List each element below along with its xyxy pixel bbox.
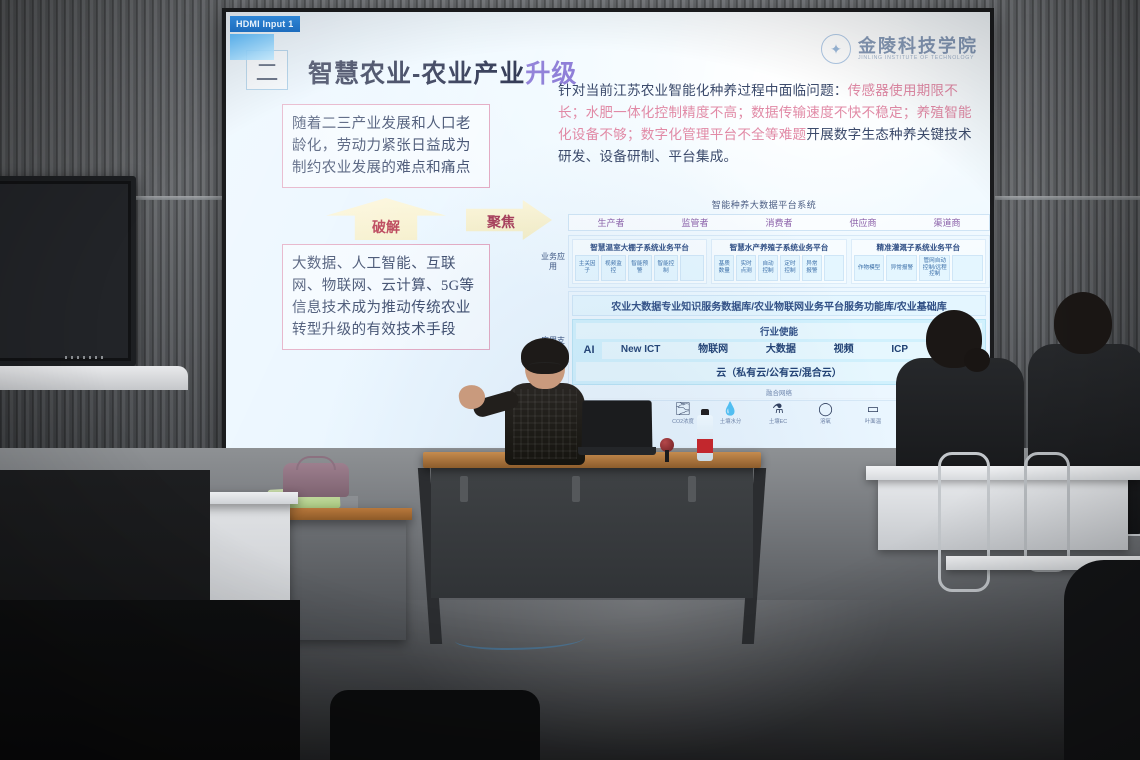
enablement-item: 物联网 bbox=[698, 345, 728, 356]
wall-display-screen bbox=[0, 184, 128, 358]
sensor-label: 溶氧 bbox=[806, 417, 846, 425]
breakthrough-arrow: 破解 bbox=[326, 198, 446, 240]
sensor-soil-moisture-icon: 💧 bbox=[711, 402, 751, 415]
sensor-item: ◯ 溶氧 bbox=[806, 402, 846, 425]
water-bottle bbox=[697, 409, 713, 461]
microphone-stem bbox=[665, 450, 669, 462]
wall-display-shelf bbox=[0, 366, 188, 390]
student-head bbox=[1054, 292, 1112, 354]
diagram-roles-row: 生产者 监管者 消费者 供应商 渠道商 bbox=[568, 214, 990, 231]
subsystem-cells: 主关因子 视频监控 智能预警 智能控制 bbox=[575, 255, 704, 281]
role-item: 渠道商 bbox=[933, 216, 960, 229]
chair-frame bbox=[938, 452, 990, 592]
university-name: 金陵科技学院 JINLING INSTITUTE OF TECHNOLOGY bbox=[858, 37, 978, 61]
subsystem-cell: 主关因子 bbox=[575, 255, 599, 281]
arrow-right-label: 聚焦 bbox=[472, 212, 530, 232]
subsystem-cell: 视频监控 bbox=[601, 255, 625, 281]
left-text-box-2: 大数据、人工智能、互联网、物联网、云计算、5G等信息技术成为推动传统农业转型升级… bbox=[282, 244, 490, 350]
foreground-shadow-block bbox=[0, 600, 300, 760]
university-logo: ✦ 金陵科技学院 JINLING INSTITUTE OF TECHNOLOGY bbox=[821, 34, 978, 64]
subsystem-greenhouse: 智慧温室大棚子系统业务平台 主关因子 视频监控 智能预警 智能控制 bbox=[572, 239, 707, 284]
subsystem-title: 智慧温室大棚子系统业务平台 bbox=[575, 242, 704, 253]
subsystem-irrigation: 精准灌溉子系统业务平台 作物模型 异常报警 管网自动控制/远程控制 bbox=[851, 239, 986, 284]
chair-frame bbox=[1024, 452, 1070, 572]
podium-body bbox=[431, 468, 753, 598]
sensor-label: 土壤水分 bbox=[711, 417, 751, 425]
hdmi-badge-backdrop bbox=[230, 34, 274, 60]
subsystem-cell: 异常报警 bbox=[802, 255, 822, 281]
subsystem-title: 精准灌溉子系统业务平台 bbox=[854, 242, 983, 253]
subsystem-cell: 基质数量 bbox=[714, 255, 734, 281]
sensor-item: ▭ 叶面温 bbox=[853, 402, 893, 425]
student-seated-3 bbox=[1064, 560, 1140, 760]
sensor-leaf-temperature-icon: ▭ bbox=[853, 402, 893, 415]
subsystem-cell: 定时控制 bbox=[780, 255, 800, 281]
wall-display bbox=[0, 176, 136, 366]
sensor-item: ⚗ 土壤EC bbox=[758, 402, 798, 425]
university-name-cn: 金陵科技学院 bbox=[858, 37, 978, 56]
handbag-handle bbox=[296, 456, 336, 470]
slide-title-main: 智慧农业-农业产业 bbox=[308, 60, 525, 88]
university-emblem-icon: ✦ bbox=[821, 34, 851, 64]
paragraph-lead: 针对当前江苏农业智能化种养过程中面临问题： bbox=[558, 83, 848, 98]
sensor-soil-ec-icon: ⚗ bbox=[758, 402, 798, 415]
subsystem-cell: 自动控制 bbox=[758, 255, 778, 281]
podium-handle bbox=[688, 476, 696, 502]
role-item: 生产者 bbox=[597, 216, 624, 229]
page-title: 智慧农业-农业产业升级 bbox=[308, 54, 577, 90]
subsystem-cell: 实时点测 bbox=[736, 255, 756, 281]
problem-paragraph: 针对当前江苏农业智能化种养过程中面临问题：传感器使用期限不长；水肥一体化控制精度… bbox=[558, 80, 982, 168]
sensor-item: 💧 土壤水分 bbox=[711, 402, 751, 425]
enablement-item: New ICT bbox=[621, 345, 660, 356]
laptop-base bbox=[578, 447, 656, 455]
business-application-body: 智慧温室大棚子系统业务平台 主关因子 视频监控 智能预警 智能控制 bbox=[568, 235, 990, 288]
sensor-dissolved-oxygen-icon: ◯ bbox=[806, 402, 846, 415]
role-item: 供应商 bbox=[849, 216, 876, 229]
subsystem-cells: 基质数量 实时点测 自动控制 定时控制 异常报警 bbox=[714, 255, 843, 281]
student-desk-panel bbox=[878, 480, 1128, 550]
subsystem-cell: 异常报警 bbox=[886, 255, 917, 281]
microphone bbox=[660, 438, 674, 460]
subsystem-cell: 管网自动控制/远程控制 bbox=[919, 255, 950, 281]
student-hair-tie bbox=[964, 348, 990, 372]
bottle-body bbox=[697, 415, 713, 461]
subsystem-cell-empty bbox=[680, 255, 704, 281]
subsystem-cells: 作物模型 异常报警 管网自动控制/远程控制 bbox=[854, 255, 983, 281]
diagram-title: 智能种养大数据平台系统 bbox=[538, 198, 990, 211]
enablement-item: 大数据 bbox=[766, 345, 796, 356]
student-torso bbox=[1064, 560, 1140, 760]
wall-display-indicator bbox=[65, 356, 107, 359]
subsystem-list: 智慧温室大棚子系统业务平台 主关因子 视频监控 智能预警 智能控制 bbox=[572, 239, 986, 284]
subsystem-cell: 智能控制 bbox=[654, 255, 678, 281]
subsystem-cell-empty bbox=[824, 255, 844, 281]
glasses-icon bbox=[528, 362, 562, 370]
subsystem-cell-empty bbox=[952, 255, 983, 281]
subsystem-cell: 作物模型 bbox=[854, 255, 885, 281]
enablement-item: 视频 bbox=[834, 345, 854, 356]
classroom-photo: HDMI Input 1 二 智慧农业-农业产业升级 ✦ 金陵科技学院 JINL… bbox=[0, 0, 1140, 760]
sensor-label: 土壤EC bbox=[758, 417, 798, 425]
sensor-label: 叶面温 bbox=[853, 417, 893, 425]
left-text-box-1: 随着二三产业发展和人口老龄化，劳动力紧张日益成为制约农业发展的难点和痛点 bbox=[282, 104, 490, 188]
hdmi-input-badge: HDMI Input 1 bbox=[230, 16, 300, 32]
laptop-screen bbox=[582, 400, 653, 448]
foreground-chair bbox=[330, 690, 540, 760]
laptop bbox=[578, 400, 656, 456]
student-desk-top bbox=[866, 466, 1140, 480]
arrow-up-label: 破解 bbox=[326, 217, 446, 237]
business-application-row: 业务应用 智慧温室大棚子系统业务平台 主关因子 视频监控 智能预警 智能控制 bbox=[538, 235, 990, 288]
row-label-business: 业务应用 bbox=[538, 235, 568, 288]
bottle-label bbox=[697, 439, 713, 453]
podium-handle bbox=[572, 476, 580, 502]
subsystem-aquaculture: 智慧水产养殖子系统业务平台 基质数量 实时点测 自动控制 定时控制 异常报警 bbox=[711, 239, 846, 284]
podium-handle bbox=[460, 476, 468, 502]
role-item: 监管者 bbox=[681, 216, 708, 229]
presentation-slide: HDMI Input 1 二 智慧农业-农业产业升级 ✦ 金陵科技学院 JINL… bbox=[226, 12, 990, 456]
bottle-cap bbox=[701, 409, 709, 415]
role-item: 消费者 bbox=[765, 216, 792, 229]
projection-screen: HDMI Input 1 二 智慧农业-农业产业升级 ✦ 金陵科技学院 JINL… bbox=[222, 8, 994, 460]
university-name-en: JINLING INSTITUTE OF TECHNOLOGY bbox=[858, 56, 978, 61]
subsystem-title: 智慧水产养殖子系统业务平台 bbox=[714, 242, 843, 253]
subsystem-cell: 智能预警 bbox=[628, 255, 652, 281]
